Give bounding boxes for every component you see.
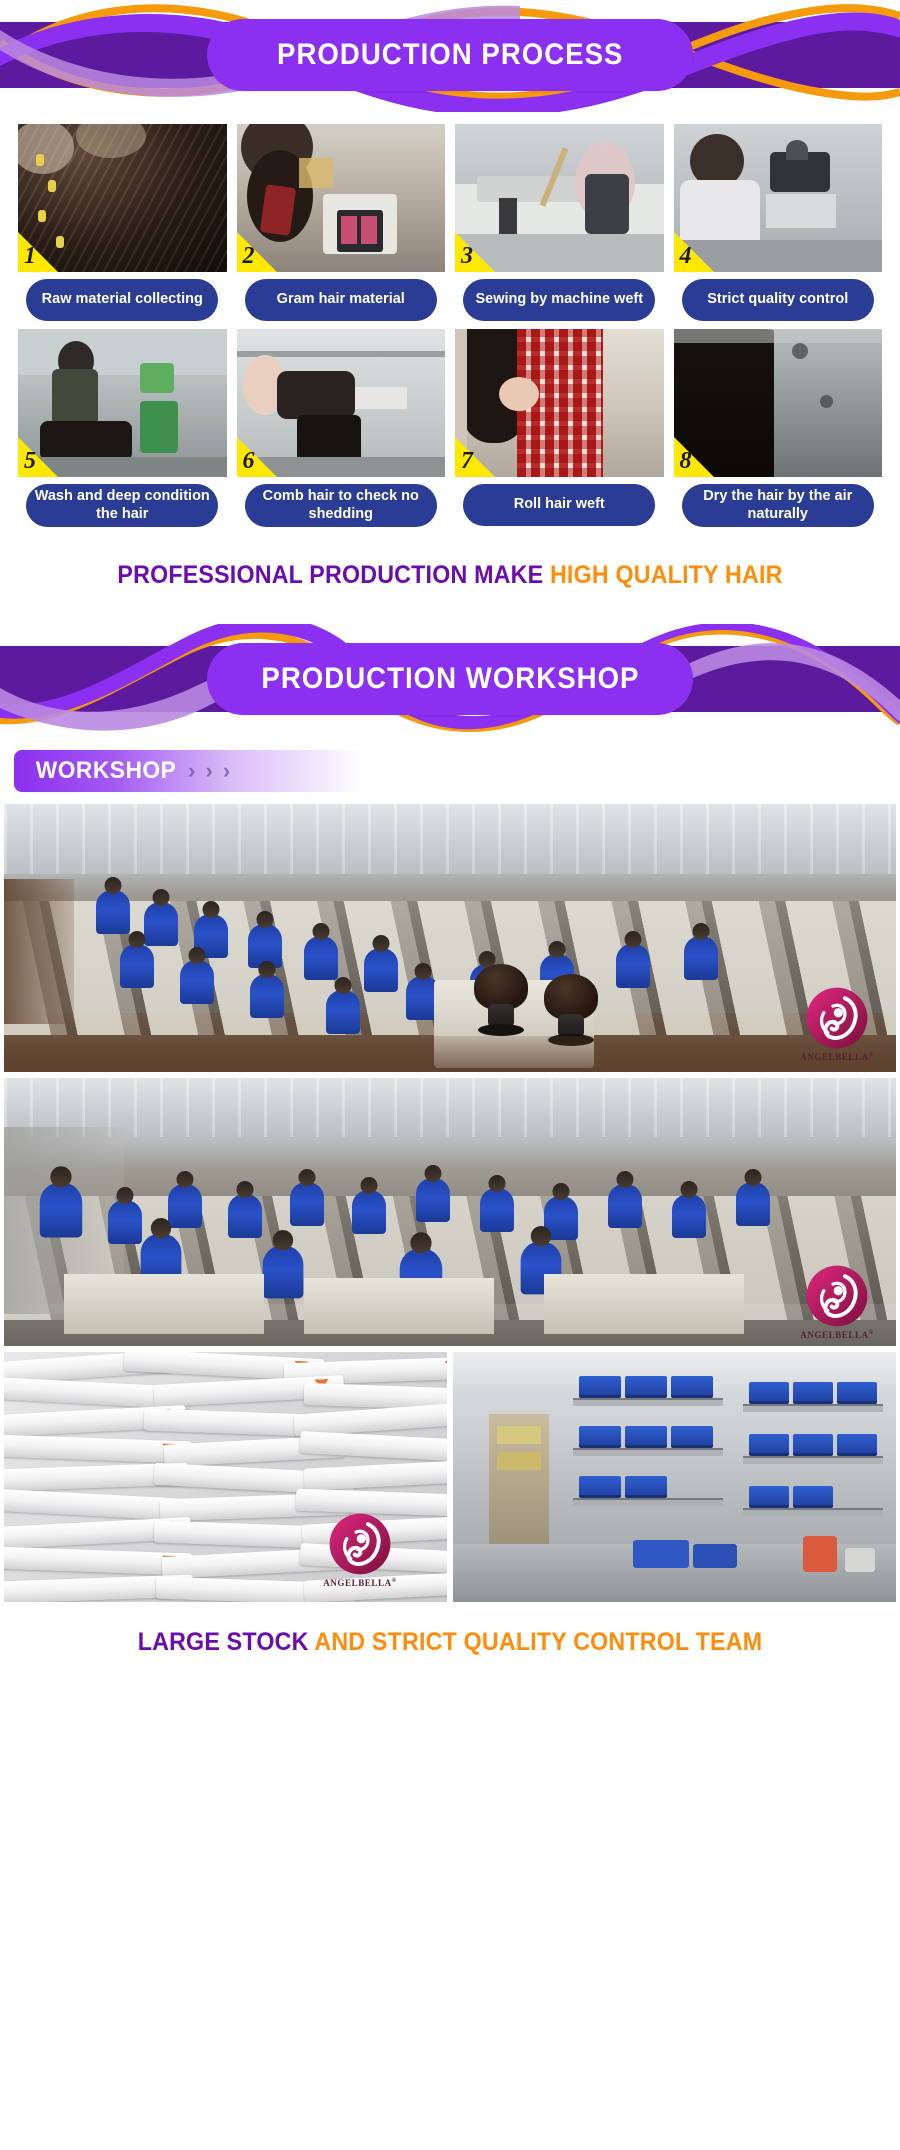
process-step-1-photo: 1 [18,124,227,272]
process-step-4-photo: 4 [674,124,883,272]
workshop-tab-wrap: WORKSHOP › › › [0,736,900,804]
tagline-2-purple: LARGE STOCK [138,1628,309,1656]
banner-production-workshop: PRODUCTION WORKSHOP [0,624,900,736]
step-number-2: 2 [243,243,255,270]
step-number-6: 6 [243,448,255,475]
banner-title-1: PRODUCTION PROCESS [277,38,623,72]
process-step-5-photo: 5 [18,329,227,477]
workshop-tab-label: WORKSHOP [36,757,177,785]
workshop-photo-gallery: ANGELBELLA® [0,804,900,1602]
workshop-photo-row-3: ANGELBELLA® [4,1352,896,1602]
workshop-photo-4-warehouse[interactable] [453,1352,896,1602]
step-number-5: 5 [24,448,36,475]
process-step-2-label: Gram hair material [245,279,437,321]
banner-production-process: PRODUCTION PROCESS [0,0,900,112]
step-number-7: 7 [461,448,473,475]
workshop-tab[interactable]: WORKSHOP › › › [14,750,364,792]
tagline-2-orange: AND STRICT QUALITY CONTROL TEAM [314,1628,762,1656]
process-step-6-photo: 6 [237,329,446,477]
workshop-photo-1[interactable]: ANGELBELLA® [4,804,896,1072]
process-step-7-photo: 7 [455,329,664,477]
process-step-6-label: Comb hair to check no shedding [245,484,437,527]
process-step-3-photo: 3 [455,124,664,272]
chevron-right-icon: › › › [188,758,232,784]
banner-title-2: PRODUCTION WORKSHOP [261,662,639,696]
production-process-grid: 1 Raw material collecting 2 [0,112,900,527]
product-detail-page: PRODUCTION PROCESS 1 Raw material collec… [0,0,900,2150]
process-step-5[interactable]: 5 Wash and deep condition the hair [18,329,227,527]
process-step-7-label: Roll hair weft [463,484,655,526]
banner-title-pill-1: PRODUCTION PROCESS [207,19,693,91]
process-step-1[interactable]: 1 Raw material collecting [18,124,227,321]
process-step-1-label: Raw material collecting [26,279,218,321]
process-step-2[interactable]: 2 Gram hair material [237,124,446,321]
process-row-2: 5 Wash and deep condition the hair 6 Com… [18,329,882,527]
process-step-8[interactable]: 8 Dry the hair by the air naturally [674,329,883,527]
step-number-3: 3 [461,243,473,270]
step-number-1: 1 [24,243,36,270]
process-step-5-label: Wash and deep condition the hair [26,484,218,527]
tagline-professional-production: PROFESSIONAL PRODUCTION MAKE HIGH QUALIT… [32,535,869,624]
process-step-3[interactable]: 3 Sewing by machine weft [455,124,664,321]
banner-title-pill-2: PRODUCTION WORKSHOP [207,643,693,715]
process-step-8-label: Dry the hair by the air naturally [682,484,874,527]
tagline-1-purple: PROFESSIONAL PRODUCTION MAKE [117,561,543,589]
process-step-2-photo: 2 [237,124,446,272]
step-number-8: 8 [680,448,692,475]
process-step-7[interactable]: 7 Roll hair weft [455,329,664,527]
tagline-1-orange: HIGH QUALITY HAIR [550,561,783,589]
process-step-8-photo: 8 [674,329,883,477]
process-step-4-label: Strict quality control [682,279,874,321]
workshop-photo-2[interactable]: ANGELBELLA® [4,1078,896,1346]
workshop-photo-3-stock-packets[interactable]: ANGELBELLA® [4,1352,447,1602]
step-number-4: 4 [680,243,692,270]
process-step-6[interactable]: 6 Comb hair to check no shedding [237,329,446,527]
tagline-large-stock: LARGE STOCK AND STRICT QUALITY CONTROL T… [32,1602,869,1677]
process-step-3-label: Sewing by machine weft [463,279,655,321]
process-row-1: 1 Raw material collecting 2 [18,124,882,321]
process-step-4[interactable]: 4 Strict quality control [674,124,883,321]
